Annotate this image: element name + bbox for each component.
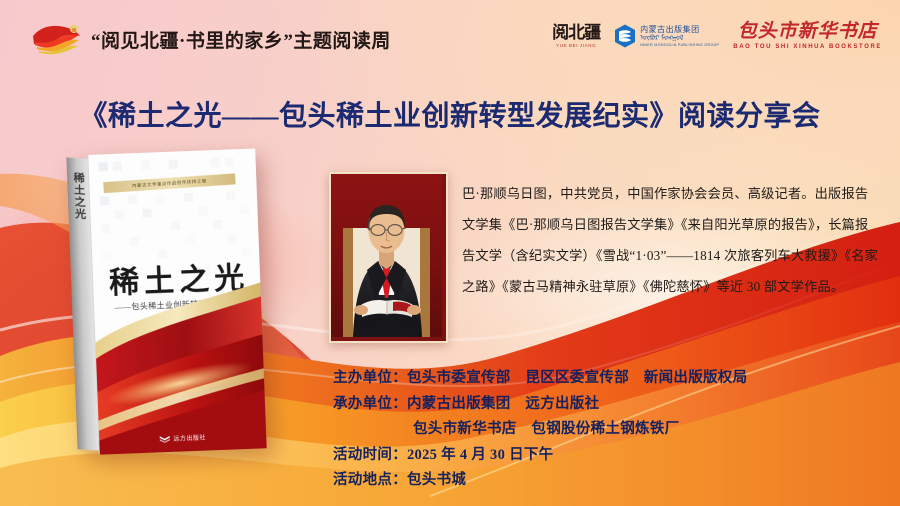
host-orgs: 包头市委宣传部 昆区区委宣传部 新闻出版版权局 [407,370,747,386]
event-time-value: 2025 年 4 月 30 日下午 [407,447,553,463]
event-poster: 阅 “阅见北疆·书里的家乡”主题阅读周 阅北疆 YUE BEI JIANG 内蒙… [0,0,900,506]
organizer-orgs-line1: 内蒙古出版集团 远方出版社 [407,396,599,412]
red-flag-logo-icon: 阅 [30,22,82,56]
svg-text:阅: 阅 [72,26,76,33]
event-info-block: 主办单位：包头市委宣传部 昆区区委宣传部 新闻出版版权局 承办单位：内蒙古出版集… [333,366,893,494]
book-front-cover: 内蒙古文学重点作品创作扶持工程 稀土之光 ——包头稀土业创新转型发展纪实 巴·那… [87,148,266,454]
logo-baotou-xinhua-bookstore[interactable]: 包头市新华书店 BAO TOU SHI XINHUA BOOKSTORE [733,22,882,50]
event-time-label: 活动时间： [333,447,407,463]
logo-inner-mongolia-publishing-group[interactable]: 内蒙古出版集团 ᠥᠪᠥᠷ ᠮᠣᠩᠭᠣᠯ INNER MONGOLIA PUBLI… [614,24,719,48]
organizer-row-2: 包头市新华书店 包钢股份稀土钢炼铁厂 [333,417,893,443]
xinhua-name-en: BAO TOU SHI XINHUA BOOKSTORE [733,44,882,50]
impg-name-mongolian: ᠥᠪᠥᠷ ᠮᠣᠩᠭᠣᠯ [640,35,719,43]
logo-yuebeijiang-cn: 阅北疆 [552,24,600,41]
logo-yuebeijiang[interactable]: 阅北疆 YUE BEI JIANG [552,24,600,48]
event-place-row: 活动地点：包头书城 [333,468,893,494]
publisher-mark-icon [159,434,170,442]
author-portrait [329,172,448,343]
xinhua-name-cn: 包头市新华书店 [738,22,878,41]
author-bio: 巴·那顺乌日图，中共党员，中国作家协会会员、高级记者。出版报告文学集《巴·那顺乌… [462,178,878,302]
book-cover-wave-art [93,276,266,454]
host-row: 主办单位：包头市委宣传部 昆区区委宣传部 新闻出版版权局 [333,366,893,392]
book-spine-title: 稀土之光 [70,172,88,221]
book-cover-publisher-name: 远方出版社 [173,433,206,443]
organizer-row: 承办单位：内蒙古出版集团 远方出版社 [333,392,893,418]
event-place-value: 包头书城 [407,472,466,488]
organizer-orgs-line2: 包头市新华书店 包钢股份稀土钢炼铁厂 [413,421,679,437]
impg-name-en: INNER MONGOLIA PUBLISHING GROUP [640,43,719,47]
organizer-label: 承办单位： [333,396,407,412]
event-time-row: 活动时间：2025 年 4 月 30 日下午 [333,443,893,469]
campaign-title: “阅见北疆·书里的家乡”主题阅读周 [91,26,391,53]
poster-header: 阅 “阅见北疆·书里的家乡”主题阅读周 阅北疆 YUE BEI JIANG 内蒙… [0,0,900,80]
author-photo [331,174,442,337]
page-title: 《稀土之光——包头稀土业创新转型发展纪实》阅读分享会 [0,94,900,134]
host-label: 主办单位： [333,370,407,386]
logo-yuebeijiang-pinyin: YUE BEI JIANG [556,43,596,48]
campaign-brand: 阅 “阅见北疆·书里的家乡”主题阅读周 [30,22,391,56]
event-place-label: 活动地点： [333,472,407,488]
impg-text-block: 内蒙古出版集团 ᠥᠪᠥᠷ ᠮᠣᠩᠭᠣᠯ INNER MONGOLIA PUBLI… [640,25,719,48]
sponsor-logos: 阅北疆 YUE BEI JIANG 内蒙古出版集团 ᠥᠪᠥᠷ ᠮᠣᠩᠭᠣᠯ IN… [552,22,882,50]
book-cover-image: 稀土之光 [66,149,265,456]
impg-hexagon-icon [614,24,636,48]
